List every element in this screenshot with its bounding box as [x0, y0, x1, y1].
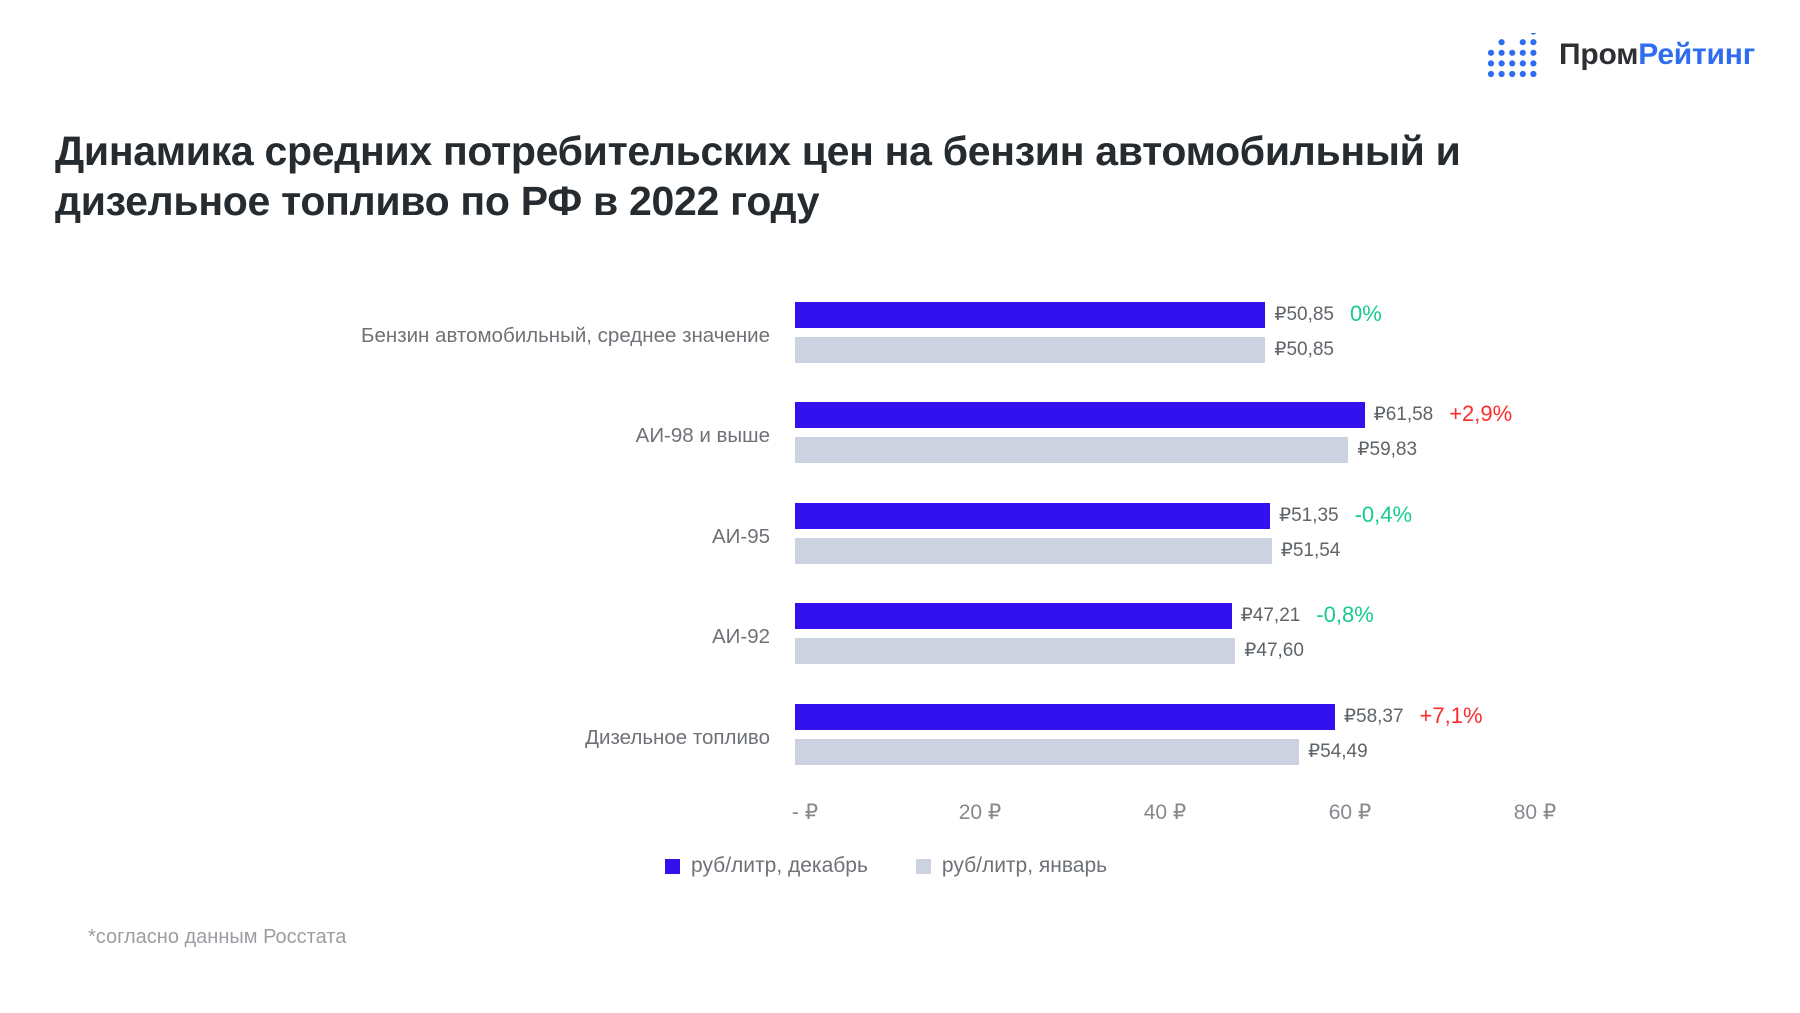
value-label-december: ₽61,58	[1374, 402, 1434, 428]
brand-logo: ПромРейтинг	[1487, 33, 1755, 77]
value-label-january: ₽50,85	[1274, 337, 1334, 363]
category-label: АИ-98 и выше	[200, 424, 770, 448]
x-axis: - ₽20 ₽40 ₽60 ₽80 ₽	[0, 800, 1800, 840]
category-label: АИ-92	[200, 625, 770, 649]
legend-item-jan[interactable]: руб/литр, январь	[916, 854, 1107, 878]
bar-january	[795, 337, 1265, 363]
bar-december	[795, 302, 1265, 328]
value-label-january: ₽47,60	[1244, 638, 1304, 664]
legend-swatch-icon	[665, 859, 680, 874]
bar-january	[795, 538, 1272, 564]
category-label: Бензин автомобильный, среднее значение	[200, 324, 770, 348]
bar-january	[795, 638, 1235, 664]
axis-tick-label: 60 ₽	[1329, 800, 1372, 825]
value-label-december: ₽58,37	[1344, 704, 1404, 730]
axis-tick-label: - ₽	[792, 800, 818, 825]
category-label: АИ-95	[200, 525, 770, 549]
bar-january	[795, 739, 1299, 765]
bar-december	[795, 503, 1270, 529]
change-percentage: -0,8%	[1316, 602, 1373, 628]
change-percentage: -0,4%	[1355, 502, 1412, 528]
value-label-december: ₽50,85	[1274, 302, 1334, 328]
change-percentage: +2,9%	[1449, 401, 1512, 427]
axis-tick-label: 80 ₽	[1514, 800, 1557, 825]
bar-december	[795, 704, 1335, 730]
axis-tick-label: 40 ₽	[1144, 800, 1187, 825]
legend-label: руб/литр, декабрь	[691, 854, 868, 878]
bar-december	[795, 603, 1232, 629]
legend-swatch-icon	[916, 859, 931, 874]
change-percentage: +7,1%	[1420, 703, 1483, 729]
brand-name: ПромРейтинг	[1559, 38, 1755, 72]
footnote: *согласно данным Росстата	[88, 926, 346, 949]
value-label-january: ₽59,83	[1357, 437, 1417, 463]
bar-january	[795, 437, 1348, 463]
value-label-january: ₽54,49	[1308, 739, 1368, 765]
bar-december	[795, 402, 1365, 428]
dot-matrix-bars-icon	[1487, 33, 1545, 77]
change-percentage: 0%	[1350, 301, 1382, 327]
value-label-december: ₽51,35	[1279, 503, 1339, 529]
category-label: Дизельное топливо	[200, 726, 770, 750]
bar-chart: Бензин автомобильный, среднее значение₽5…	[0, 292, 1800, 832]
value-label-december: ₽47,21	[1241, 603, 1301, 629]
legend-label: руб/литр, январь	[942, 854, 1107, 878]
value-label-january: ₽51,54	[1281, 538, 1341, 564]
page-title: Динамика средних потребительских цен на …	[55, 126, 1575, 226]
brand-name-part2: Рейтинг	[1638, 38, 1755, 71]
legend-item-dec[interactable]: руб/литр, декабрь	[665, 854, 868, 878]
axis-tick-label: 20 ₽	[959, 800, 1002, 825]
brand-name-part1: Пром	[1559, 38, 1638, 71]
chart-legend: руб/литр, декабрьруб/литр, январь	[665, 854, 1107, 878]
